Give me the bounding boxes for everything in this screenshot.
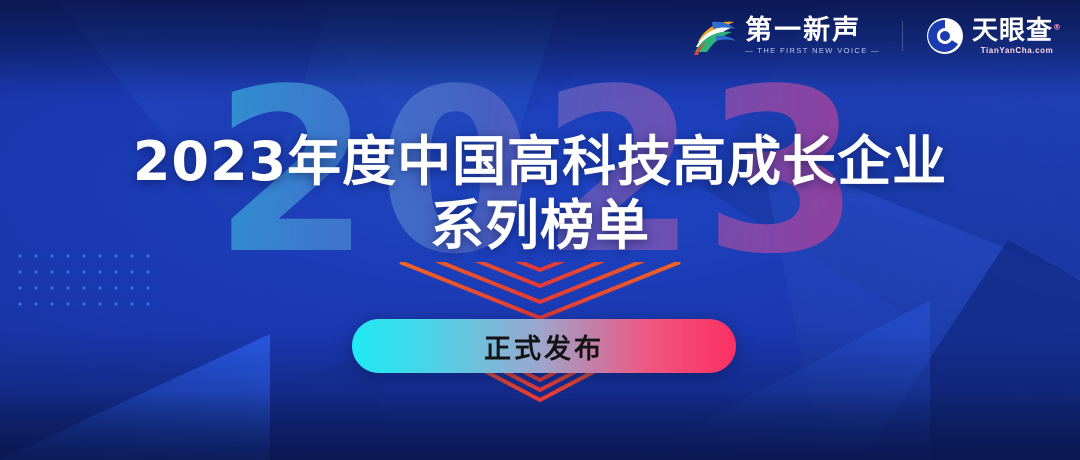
logo-diyixinsheng[interactable]: 第一新声 — THE FIRST NEW VOICE — [692, 16, 880, 56]
tianyancha-logo-icon [925, 16, 965, 56]
diyixinsheng-name-cn: 第一新声 [745, 17, 880, 44]
trademark-mark: ® [1053, 22, 1062, 31]
diyixinsheng-logo-icon [692, 16, 738, 56]
release-button[interactable]: 正式发布 [352, 319, 736, 373]
logo-divider [902, 21, 903, 51]
tianyancha-logo-text: 天眼查® TianYanCha.com [972, 18, 1062, 55]
banner-canvas: 2023 [0, 0, 1080, 460]
title-line-1: 2023年度中国高科技高成长企业 [133, 130, 947, 193]
logo-tianyancha[interactable]: 天眼查® TianYanCha.com [925, 16, 1062, 56]
diyixinsheng-name-en: — THE FIRST NEW VOICE — [745, 47, 880, 55]
page-title: 2023年度中国高科技高成长企业 系列榜单 [0, 130, 1080, 257]
diyixinsheng-logo-text: 第一新声 — THE FIRST NEW VOICE — [745, 17, 880, 55]
logo-bar: 第一新声 — THE FIRST NEW VOICE — 天眼查® TianYa… [692, 12, 1062, 60]
title-line-2: 系列榜单 [0, 194, 1080, 258]
tianyancha-name-en: TianYanCha.com [972, 47, 1062, 55]
tianyancha-name-cn: 天眼查® [972, 18, 1062, 44]
